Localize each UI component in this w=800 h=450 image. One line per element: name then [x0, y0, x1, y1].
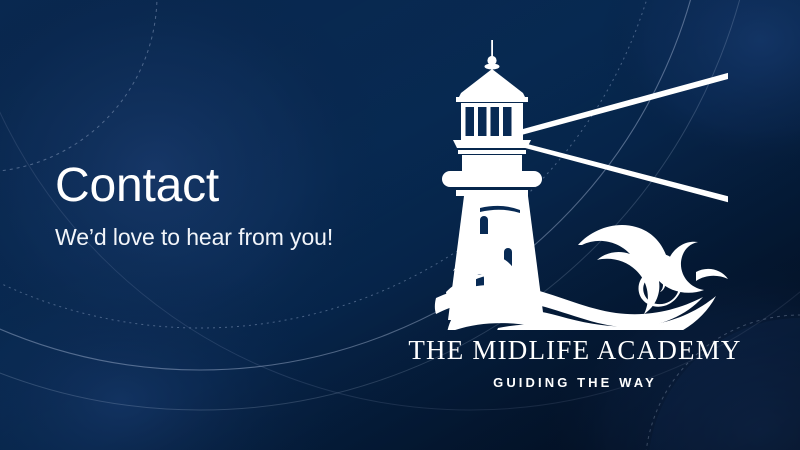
logo-lockup: THE MIDLIFE ACADEMY GUIDING THE WAY	[400, 40, 750, 410]
page-title: Contact	[55, 160, 385, 212]
contact-text-block: Contact We’d love to hear from you!	[55, 160, 385, 251]
lantern-roof-icon	[459, 69, 525, 97]
tower-corbel-ring-icon	[442, 171, 542, 187]
lantern-gallery-icon	[453, 140, 531, 148]
lantern-finial-icon	[491, 40, 493, 57]
contact-slide: Contact We’d love to hear from you!	[0, 0, 800, 450]
logo-wordmark: THE MIDLIFE ACADEMY	[400, 335, 750, 366]
logo-tagline: GUIDING THE WAY	[400, 375, 750, 390]
watch-room-icon	[462, 155, 522, 171]
page-subtitle: We’d love to hear from you!	[55, 224, 385, 252]
lighthouse-with-waves-icon	[428, 40, 728, 330]
light-beam-icon	[512, 66, 728, 209]
